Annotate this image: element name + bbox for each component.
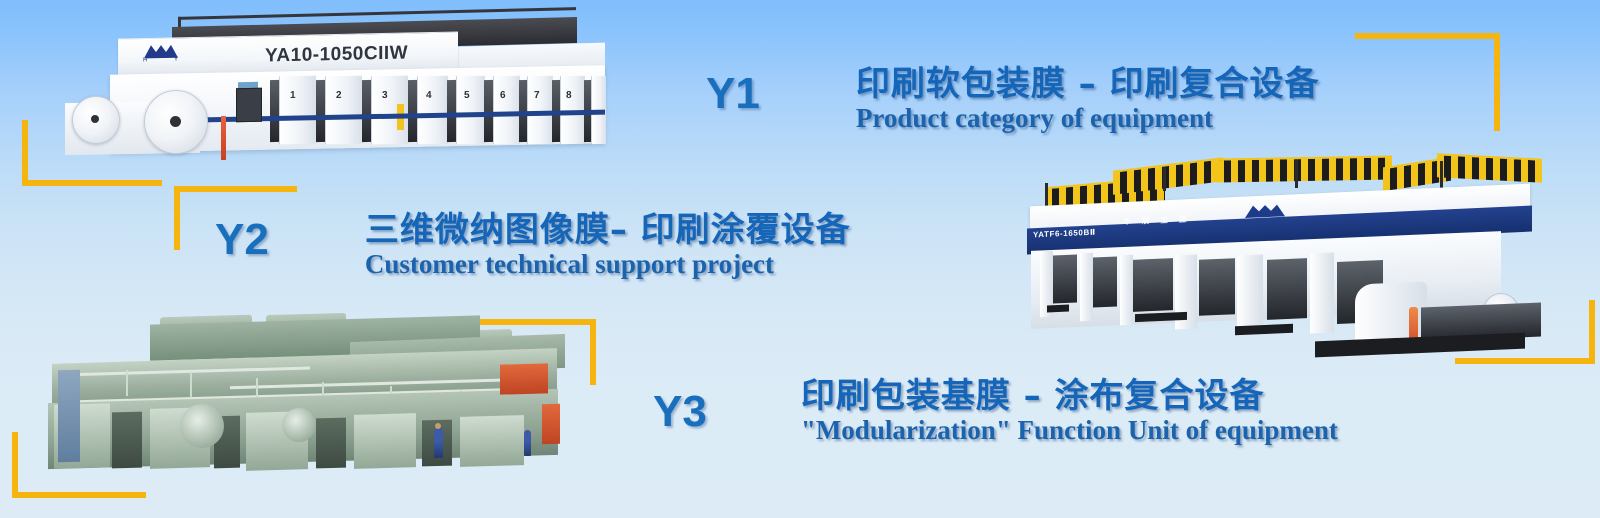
railing-post: [1163, 167, 1166, 191]
press-unit-number: 4: [426, 90, 432, 101]
laminator-column: [1120, 255, 1133, 326]
press-reel-hub: [91, 115, 99, 123]
feature-text-y1: 印刷软包装膜 – 印刷复合设备 Product category of equi…: [856, 66, 1320, 134]
safety-railing: [1437, 153, 1542, 183]
corner-bracket-top-right: [1355, 33, 1500, 131]
coating-roller: [180, 404, 224, 448]
coating-unit: [460, 415, 524, 467]
machine-photo-coating-line: [30, 308, 575, 488]
coating-drive-housing: [112, 412, 142, 469]
feature-title-en-y2: Customer technical support project: [365, 250, 851, 280]
machine-foot: [1047, 305, 1069, 313]
coating-red-panel: [500, 363, 548, 394]
machine-model-label-top: YA10-1050CIIW: [265, 43, 408, 68]
feature-row-y2: Y2 三维微纳图像膜– 印刷涂覆设备 Customer technical su…: [215, 218, 851, 280]
press-unit-number: 2: [336, 90, 342, 101]
feature-title-cn-y1: 印刷软包装膜 – 印刷复合设备: [856, 66, 1320, 103]
coating-drive-housing: [316, 418, 346, 469]
press-unit-number: 6: [500, 90, 506, 101]
press-unit: [456, 76, 485, 145]
laminator-column: [1310, 252, 1334, 333]
hy-logo-icon: H Y: [140, 41, 188, 62]
press-unit-number: 7: [534, 90, 540, 101]
feature-title-en-y3: "Modularization" Function Unit of equipm…: [801, 416, 1338, 446]
operator-figure: [524, 430, 531, 456]
feature-title-cn-y2: 三维微纳图像膜– 印刷涂覆设备: [365, 212, 851, 249]
press-unit: [325, 76, 362, 145]
machine-foot: [1235, 324, 1293, 335]
coating-red-panel: [542, 404, 560, 445]
operator-head: [435, 423, 441, 429]
press-unit: [417, 76, 448, 145]
machine-base-rail: [1315, 333, 1525, 358]
press-unit-number: 1: [290, 90, 296, 101]
press-unit-gap: [408, 80, 417, 142]
press-unit-gap: [316, 80, 325, 142]
safety-railing: [1217, 155, 1392, 182]
laminator-roller-bank: [1093, 256, 1117, 307]
press-unit-number: 3: [382, 90, 388, 101]
laminator-column: [1080, 253, 1093, 322]
operator-figure: [434, 428, 443, 458]
coating-web-sheet: [58, 370, 80, 463]
laminator-roller-bank: [1133, 258, 1173, 312]
laminator-column: [1237, 254, 1263, 333]
press-unit: [279, 76, 316, 145]
feature-code-y3: Y3: [653, 390, 707, 434]
press-unit-gap: [270, 80, 279, 142]
feature-text-y3: 印刷包装基膜 – 涂布复合设备 "Modularization" Functio…: [801, 378, 1338, 446]
press-unit: [493, 76, 520, 145]
railing-post: [1440, 161, 1443, 191]
feature-row-y1: Y1 印刷软包装膜 – 印刷复合设备 Product category of e…: [706, 72, 1320, 134]
press-unit-number: 8: [566, 90, 572, 101]
coating-roller: [282, 408, 316, 442]
machine-photo-laminator: YATF6-1650BⅡ 华 展 宝 盛: [985, 155, 1550, 370]
feature-text-y2: 三维微纳图像膜– 印刷涂覆设备 Customer technical suppo…: [365, 212, 851, 280]
feature-title-cn-y3: 印刷包装基膜 – 涂布复合设备: [801, 378, 1338, 415]
railing-post: [190, 372, 192, 398]
press-unit-gap: [362, 80, 371, 142]
laminator-roller-bank: [1053, 254, 1077, 303]
machine-photo-printing-press: H Y YA10-1050CIIW 1 2 3 4 5 6 7 8: [60, 4, 605, 174]
hy-logo-icon: [1240, 201, 1296, 222]
svg-text:H: H: [143, 57, 147, 62]
svg-text:Y: Y: [174, 57, 178, 63]
press-reel-hub: [170, 116, 181, 127]
feature-row-y3: Y3 印刷包装基膜 – 涂布复合设备 "Modularization" Func…: [653, 390, 1338, 446]
press-control-keypad: [236, 88, 262, 122]
laminator-roller-bank: [1199, 258, 1235, 316]
press-unit-gap: [447, 80, 456, 142]
laminator-roller-bank: [1267, 258, 1307, 320]
press-unit-number: 5: [464, 90, 470, 101]
press-red-strip: [221, 116, 226, 160]
promo-banner: H Y YA10-1050CIIW 1 2 3 4 5 6 7 8: [0, 0, 1600, 518]
railing-post: [126, 370, 128, 396]
safety-railing: [1113, 157, 1223, 195]
feature-code-y2: Y2: [215, 218, 269, 262]
feature-title-en-y1: Product category of equipment: [856, 104, 1320, 134]
coating-unit: [354, 413, 416, 469]
feature-code-y1: Y1: [706, 72, 760, 116]
railing-post: [1295, 160, 1298, 188]
